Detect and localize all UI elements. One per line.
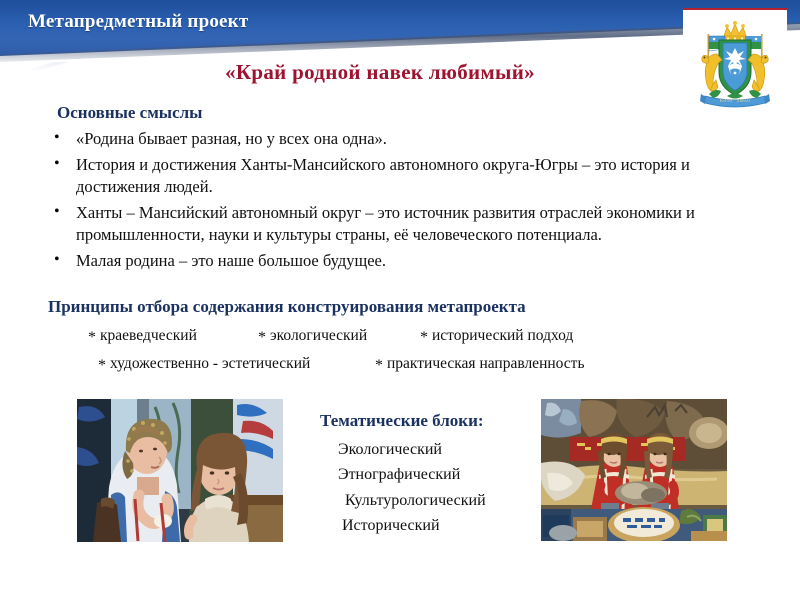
photo-two-girls-museum — [541, 399, 727, 541]
principle-label: практическая направленность — [387, 355, 585, 372]
asterisk-icon: * — [258, 329, 266, 346]
principle-label: экологический — [270, 327, 367, 344]
principles-row-1: *краеведческий *экологический *историчес… — [0, 327, 800, 355]
principle-item: *краеведческий — [88, 327, 197, 345]
bullet-icon: • — [54, 128, 60, 149]
list-item-text: «Родина бывает разная, но у всех она одн… — [76, 129, 387, 148]
principle-label: краеведческий — [100, 327, 197, 344]
thematic-blocks-list: Экологический Этнографический Культуроло… — [320, 437, 550, 538]
list-item: Этнографический — [320, 462, 550, 487]
list-item-text: История и достижения Ханты-Мансийского а… — [76, 155, 690, 195]
bullet-icon: • — [54, 202, 60, 223]
principle-item: *исторический подход — [420, 327, 573, 345]
bullet-icon: • — [54, 250, 60, 271]
asterisk-icon: * — [88, 329, 96, 346]
asterisk-icon: * — [375, 357, 383, 374]
list-item: • Малая родина – это наше большое будуще… — [48, 250, 748, 271]
asterisk-icon: * — [420, 329, 428, 346]
list-item: Культурологический — [320, 488, 550, 513]
list-item: • «Родина бывает разная, но у всех она о… — [48, 128, 748, 149]
list-item: • Ханты – Мансийский автономный округ – … — [48, 202, 748, 245]
photo-craft-lesson — [77, 399, 283, 542]
bullet-icon: • — [54, 154, 60, 175]
list-item: Экологический — [320, 437, 550, 462]
principles-row-2: *художественно - эстетический *практичес… — [0, 355, 800, 383]
principle-item: *практическая направленность — [375, 355, 585, 373]
thematic-blocks-title: Тематические блоки: — [320, 411, 484, 431]
slide: Метапредметный проект — [0, 0, 800, 600]
main-meanings-list: • «Родина бывает разная, но у всех она о… — [48, 128, 748, 277]
principles-list: *краеведческий *экологический *историчес… — [0, 327, 800, 383]
list-item: Исторический — [320, 513, 550, 538]
principle-label: художественно - эстетический — [110, 355, 310, 372]
slide-title: «Край родной навек любимый» — [0, 60, 760, 85]
principle-label: исторический подход — [432, 327, 573, 344]
list-item: • История и достижения Ханты-Мансийского… — [48, 154, 748, 197]
principle-item: *художественно - эстетический — [98, 355, 310, 373]
asterisk-icon: * — [98, 357, 106, 374]
section-heading-principles: Принципы отбора содержания конструирован… — [48, 297, 526, 317]
svg-text:ЮГРА · ХМАО: ЮГРА · ХМАО — [720, 98, 751, 103]
header-title: Метапредметный проект — [28, 11, 248, 33]
list-item-text: Ханты – Мансийский автономный округ – эт… — [76, 203, 695, 243]
list-item-text: Малая родина – это наше большое будущее. — [76, 251, 386, 270]
principle-item: *экологический — [258, 327, 367, 345]
section-heading-main-meanings: Основные смыслы — [57, 103, 202, 123]
